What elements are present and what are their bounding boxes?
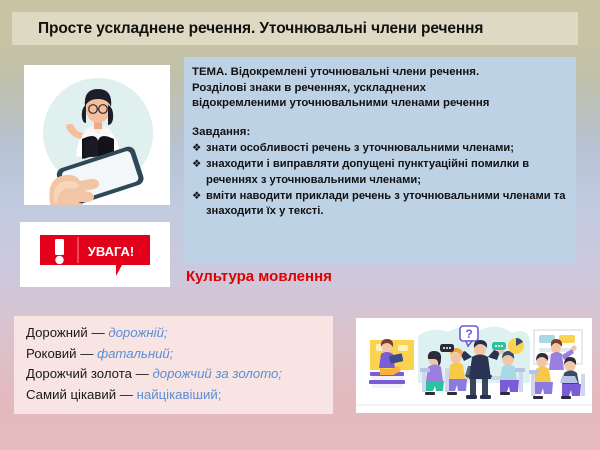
diamond-bullet-icon: ❖	[192, 157, 206, 172]
diamond-bullet-icon: ❖	[192, 141, 206, 156]
word-pairs-box: Дорожний — дорожній; Роковий — фатальний…	[14, 316, 333, 414]
online-teacher-icon	[24, 65, 170, 205]
dash-separator: —	[80, 346, 93, 361]
warning-label: УВАГА!	[88, 244, 134, 259]
dash-separator: —	[120, 387, 133, 402]
incorrect-word: Роковий	[26, 346, 77, 361]
topic-line: відокремленими уточнювальними членами ре…	[192, 96, 566, 112]
task-text: знати особливості речень з уточнювальним…	[206, 141, 566, 156]
word-pair-row: Роковий — фатальний;	[26, 344, 333, 365]
warning-card: УВАГА!	[20, 222, 170, 287]
correct-word: найцікавіший;	[137, 387, 222, 402]
culture-heading: Культура мовлення	[186, 268, 332, 285]
svg-text:?: ?	[465, 327, 472, 341]
incorrect-word: Дорожний	[26, 325, 88, 340]
slide-canvas: Просте ускладнене речення. Уточнювальні …	[0, 0, 600, 450]
diamond-bullet-icon: ❖	[192, 189, 206, 204]
correct-word: фатальний;	[97, 346, 173, 361]
task-text: вміти наводити приклади речень з уточнюв…	[206, 189, 566, 220]
slide-title-bar: Просте ускладнене речення. Уточнювальні …	[12, 12, 578, 45]
topic-line: Розділові знаки в реченнях, ускладнених	[192, 81, 566, 97]
classroom-discussion-icon: ?	[356, 318, 592, 413]
task-text: знаходити і виправляти допущені пунктуац…	[206, 157, 566, 188]
dash-separator: —	[91, 325, 104, 340]
word-pair-row: Дорожний — дорожній;	[26, 323, 333, 344]
correct-word: дорожчий за золото;	[152, 366, 282, 381]
topic-line: ТЕМА. Відокремлені уточнювальні члени ре…	[192, 65, 566, 81]
attention-icon: УВАГА!	[36, 231, 154, 279]
incorrect-word: Дорожчий золота	[26, 366, 132, 381]
incorrect-word: Самий цікавий	[26, 387, 120, 402]
task-list-item: ❖ вміти наводити приклади речень з уточн…	[192, 189, 566, 220]
topic-and-tasks-panel: ТЕМА. Відокремлені уточнювальні члени ре…	[184, 57, 576, 263]
dash-separator: —	[136, 366, 149, 381]
word-pair-row: Самий цікавий — найцікавіший;	[26, 385, 333, 406]
tasks-label: Завдання:	[192, 125, 566, 141]
task-list-item: ❖ знати особливості речень з уточнювальн…	[192, 141, 566, 156]
photo-card	[24, 65, 170, 205]
classroom-card: ?	[356, 318, 592, 413]
page-title: Просте ускладнене речення. Уточнювальні …	[38, 20, 483, 38]
task-list-item: ❖ знаходити і виправляти допущені пункту…	[192, 157, 566, 188]
word-pair-row: Дорожчий золота — дорожчий за золото;	[26, 364, 333, 385]
correct-word: дорожній;	[108, 325, 167, 340]
